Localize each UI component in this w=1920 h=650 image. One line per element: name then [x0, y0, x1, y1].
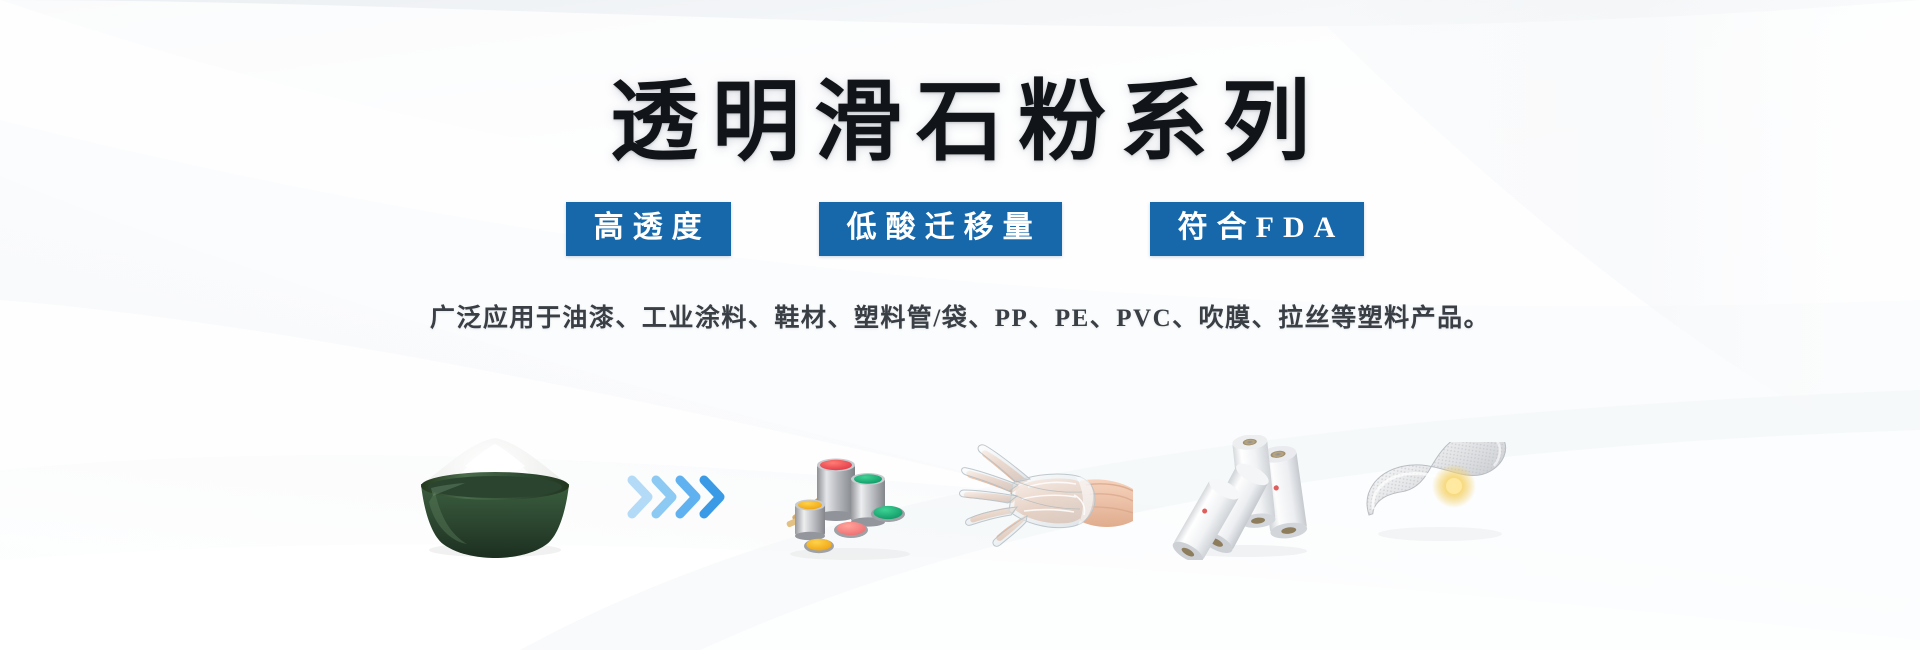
film-rolls-svg: [1165, 435, 1325, 560]
feature-badge-group: 高透度 低酸迁移量 符合FDA: [556, 202, 1365, 256]
talc-powder-bowl-image: [395, 432, 595, 562]
banner-subtitle: 广泛应用于油漆、工业涂料、鞋材、塑料管/袋、PP、PE、PVC、吹膜、拉丝等塑料…: [430, 298, 1490, 334]
banner-title: 透明滑石粉系列: [596, 80, 1324, 168]
badge-fda-compliant[interactable]: 符合FDA: [1150, 202, 1365, 256]
shoe-sole-image: [1355, 432, 1525, 562]
shoe-sole-svg: [1358, 442, 1523, 552]
chevron-arrows-svg: [626, 467, 736, 527]
glove-hand-svg: [958, 437, 1133, 557]
plastic-glove-hand-image: [955, 432, 1135, 562]
paint-cans-svg: [775, 432, 925, 562]
product-banner: 透明滑石粉系列 高透度 低酸迁移量 符合FDA 广泛应用于油漆、工业涂料、鞋材、…: [0, 0, 1920, 650]
process-arrows-icon: [621, 432, 741, 562]
product-application-strip: [0, 432, 1920, 562]
paint-cans-image: [775, 432, 925, 562]
plastic-film-rolls-image: [1165, 432, 1325, 562]
badge-low-acid-migration[interactable]: 低酸迁移量: [819, 202, 1062, 256]
badge-high-transparency[interactable]: 高透度: [566, 202, 731, 256]
talc-powder-bowl-svg: [395, 432, 595, 562]
